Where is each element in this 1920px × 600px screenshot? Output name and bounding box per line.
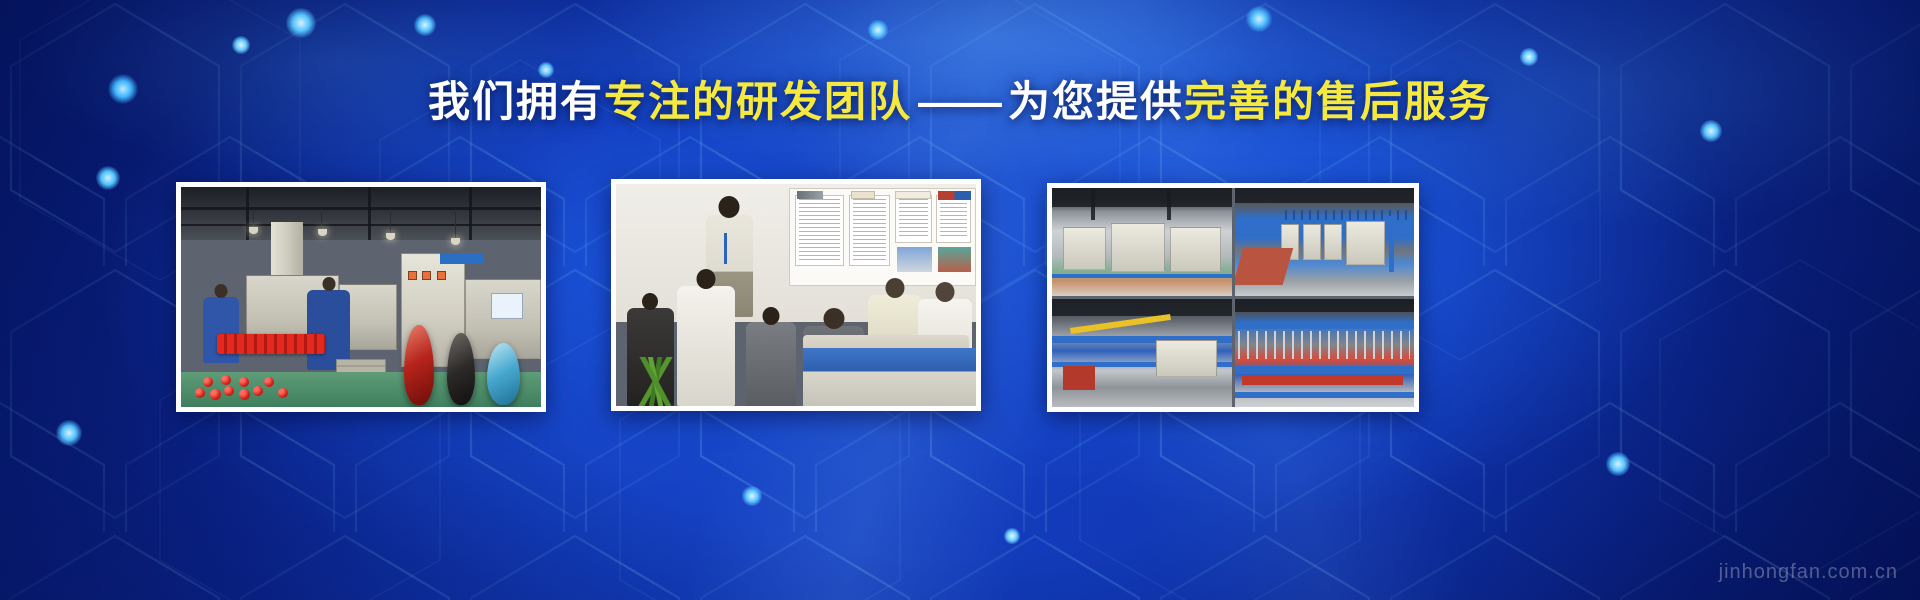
headline-dash: ——	[912, 78, 1008, 125]
photo-panel-equipment-collage[interactable]	[1047, 183, 1419, 412]
photo-equipment-collage	[1052, 188, 1414, 407]
headline-segment-4: 完善的售后服务	[1184, 78, 1492, 125]
collage-cell-workshop	[1052, 188, 1232, 296]
photo-panel-production-line[interactable]	[176, 182, 546, 412]
collage-cell-conveyor	[1052, 299, 1232, 407]
photo-panel-team-meeting[interactable]	[611, 179, 981, 411]
photo-team-meeting	[616, 184, 976, 406]
collage-cell-blue-pipeline	[1235, 188, 1415, 296]
headline-segment-3: 为您提供	[1008, 78, 1184, 125]
product-vase-blue	[487, 343, 520, 405]
headline-segment-1: 我们拥有	[428, 78, 604, 125]
collage-cell-hanging-line	[1235, 299, 1415, 407]
site-watermark: jinhongfan.com.cn	[1719, 561, 1898, 584]
banner-headline: 我们拥有专注的研发团队——为您提供完善的售后服务	[0, 78, 1920, 126]
promo-banner: 我们拥有专注的研发团队——为您提供完善的售后服务	[0, 0, 1920, 600]
photo-production-line	[181, 187, 541, 407]
headline-segment-2: 专注的研发团队	[604, 78, 912, 125]
person-seated	[746, 322, 796, 406]
